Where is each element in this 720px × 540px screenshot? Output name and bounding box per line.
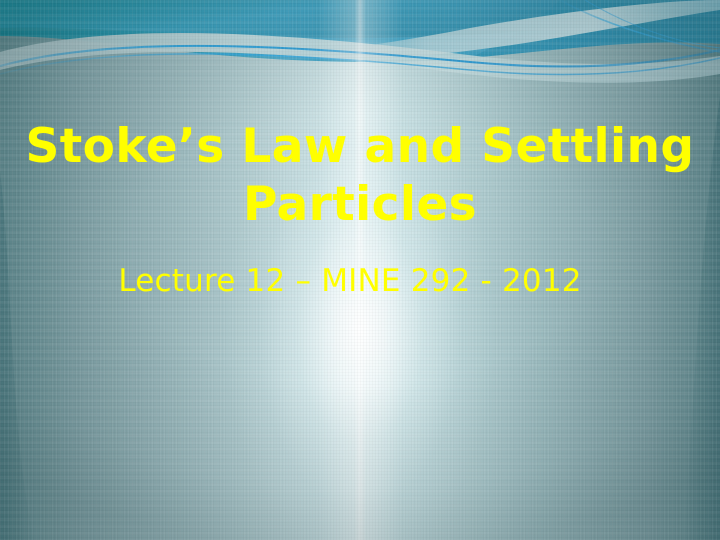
subtitle-placeholder[interactable]: Lecture 12 – MINE 292 - 2012 xyxy=(60,262,640,300)
banner-teal-overlay xyxy=(0,0,720,38)
presentation-slide: Stoke’s Law and Settling Particles Lectu… xyxy=(0,0,720,540)
banner-teal-shape xyxy=(0,0,720,62)
banner-right-wedge xyxy=(470,0,720,58)
swoosh-ribbon-upper xyxy=(300,0,720,58)
slide-title: Stoke’s Law and Settling Particles xyxy=(18,118,702,234)
accent-line-corner xyxy=(560,0,720,52)
swoosh-pale-band xyxy=(0,33,720,83)
title-placeholder[interactable]: Stoke’s Law and Settling Particles xyxy=(18,118,702,234)
accent-line-corner-thin xyxy=(585,0,720,48)
slide-subtitle: Lecture 12 – MINE 292 - 2012 xyxy=(60,262,640,300)
accent-line-primary xyxy=(0,46,720,67)
accent-line-secondary xyxy=(0,54,720,75)
